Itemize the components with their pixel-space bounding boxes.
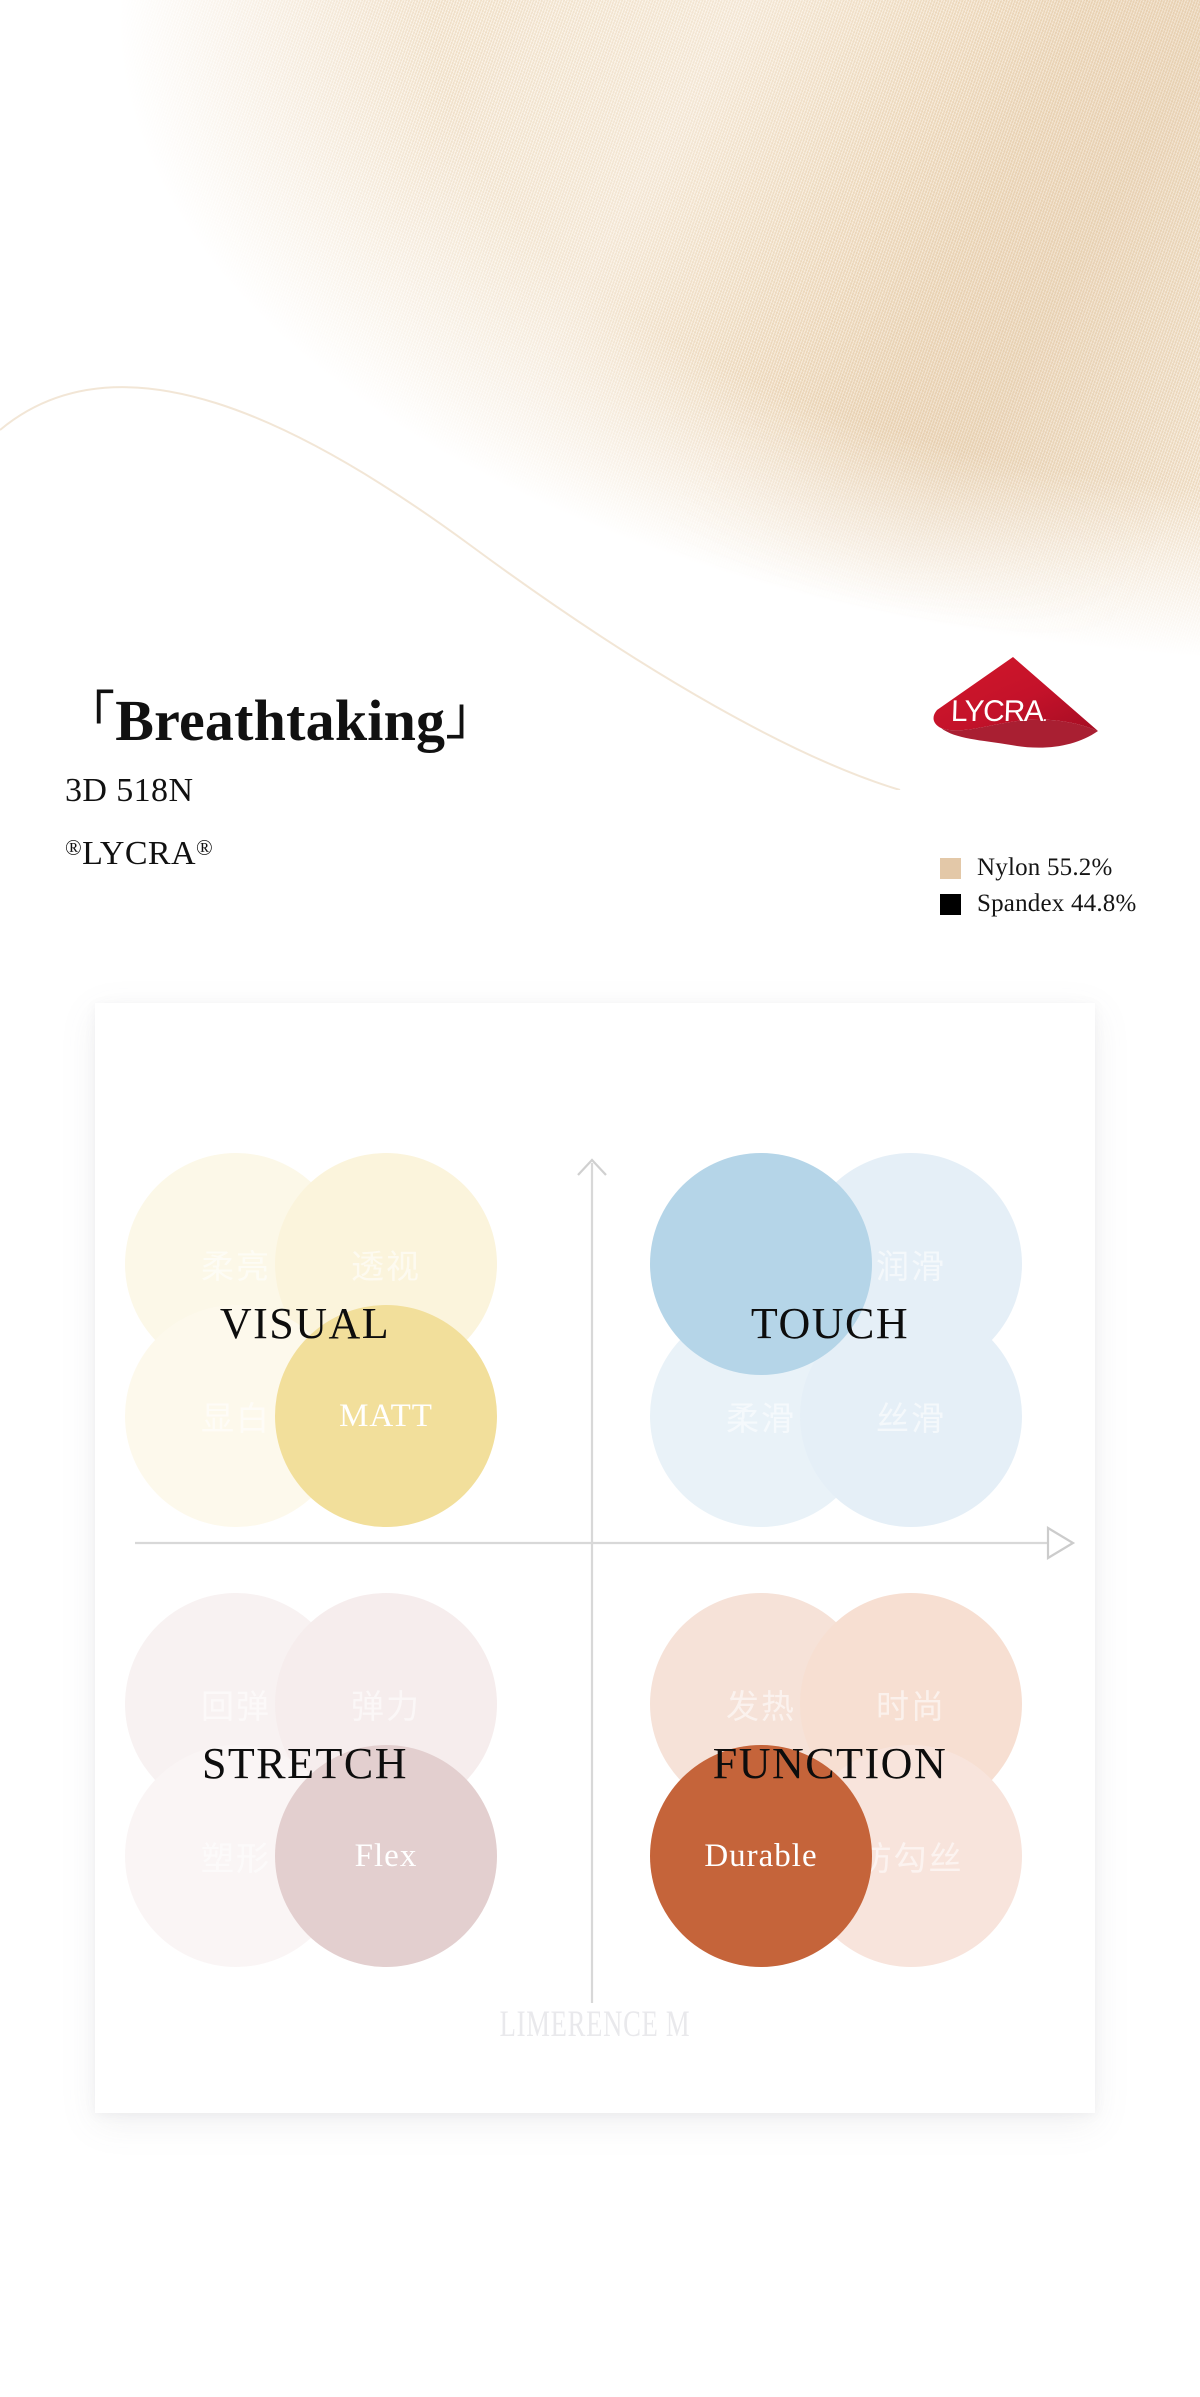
quadrant-title-touch: TOUCH — [650, 1298, 1010, 1349]
title-block: 「Breathtaking」 3D 518N ®LYCRA® — [63, 690, 683, 876]
legend-swatch-nylon — [940, 858, 961, 879]
bubble-stretch-2-label: 弹力 — [351, 1680, 421, 1728]
bubble-function-1-label: 发热 — [726, 1680, 796, 1728]
composition-legend: Nylon 55.2% Spandex 44.8% — [940, 850, 1170, 922]
bubble-touch-3-label: 柔滑 — [726, 1392, 796, 1440]
quadrant-title-stretch: STRETCH — [125, 1738, 485, 1789]
quadrant-visual: 柔亮 透视 显白 MATT VISUAL — [125, 1153, 485, 1503]
bracket-close: 」 — [445, 689, 497, 746]
quadrant-title-visual: VISUAL — [125, 1298, 485, 1349]
legend-label-spandex: Spandex 44.8% — [977, 890, 1137, 918]
bubble-visual-1-label: 柔亮 — [201, 1240, 271, 1288]
bubble-stretch-3-label: 塑形 — [201, 1832, 271, 1880]
brand-name: LYCRA — [82, 835, 196, 872]
page-title: 「Breathtaking」 — [63, 690, 683, 751]
lycra-wordmark-text: LYCRA — [950, 695, 1043, 728]
y-axis-arrowhead — [578, 1160, 606, 1175]
bubble-stretch-flex-label: Flex — [355, 1838, 418, 1875]
legend-label-nylon: Nylon 55.2% — [977, 854, 1113, 882]
legend-swatch-spandex — [940, 894, 961, 915]
headline-text: Breathtaking — [115, 688, 445, 753]
quadrant-stretch: 回弹 弹力 塑形 Flex STRETCH — [125, 1593, 485, 1943]
bubble-visual-2-label: 透视 — [351, 1240, 421, 1288]
x-axis-arrowhead — [1048, 1528, 1073, 1558]
bracket-open: 「 — [63, 689, 115, 746]
bubble-function-durable-label: Durable — [704, 1838, 817, 1875]
bubble-function-4-label: 防勾丝 — [859, 1832, 964, 1880]
quadrant-touch: 润滑 柔滑 丝滑 TOUCH — [650, 1153, 1010, 1503]
product-code: 3D 518N — [65, 769, 683, 813]
legend-item-spandex: Spandex 44.8% — [940, 886, 1170, 922]
brand-line: ®LYCRA® — [65, 832, 683, 876]
brand-watermark: LIMERENCE M — [235, 2003, 955, 2046]
bubble-visual-3-label: 显白 — [201, 1392, 271, 1440]
lycra-wordmark-dot: . — [1042, 706, 1046, 725]
quadrant-title-function: FUNCTION — [650, 1738, 1010, 1789]
reg-mark-trailing: ® — [196, 834, 213, 859]
lycra-logo: LYCRA. — [925, 655, 1110, 760]
quadrant-function: 发热 时尚 Durable 防勾丝 FUNCTION — [650, 1593, 1010, 1943]
reg-mark-leading: ® — [65, 834, 82, 859]
lycra-wordmark: LYCRA. — [950, 695, 1047, 729]
bubble-visual-matt-label: MATT — [339, 1398, 433, 1435]
bubble-touch-2-label: 润滑 — [876, 1240, 946, 1288]
legend-item-nylon: Nylon 55.2% — [940, 850, 1170, 886]
bubble-stretch-1-label: 回弹 — [201, 1680, 271, 1728]
property-matrix-card: 柔亮 透视 显白 MATT VISUAL 润滑 柔滑 丝滑 TOUCH 回弹 弹… — [95, 1003, 1095, 2113]
bubble-touch-4-label: 丝滑 — [876, 1392, 946, 1440]
bubble-function-2-label: 时尚 — [876, 1680, 946, 1728]
